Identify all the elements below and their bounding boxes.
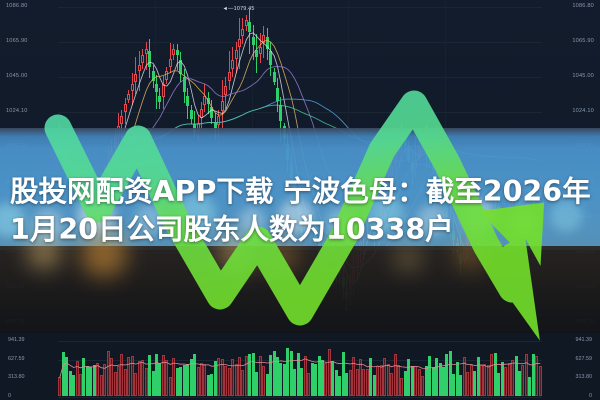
stock-news-banner: 1086.801065.901045.001024.101003.20982.3… [0,0,600,400]
headline-text: 股投网配资APP下载 宁波色母：截至2026年1月20日公司股东人数为10338… [10,173,592,249]
